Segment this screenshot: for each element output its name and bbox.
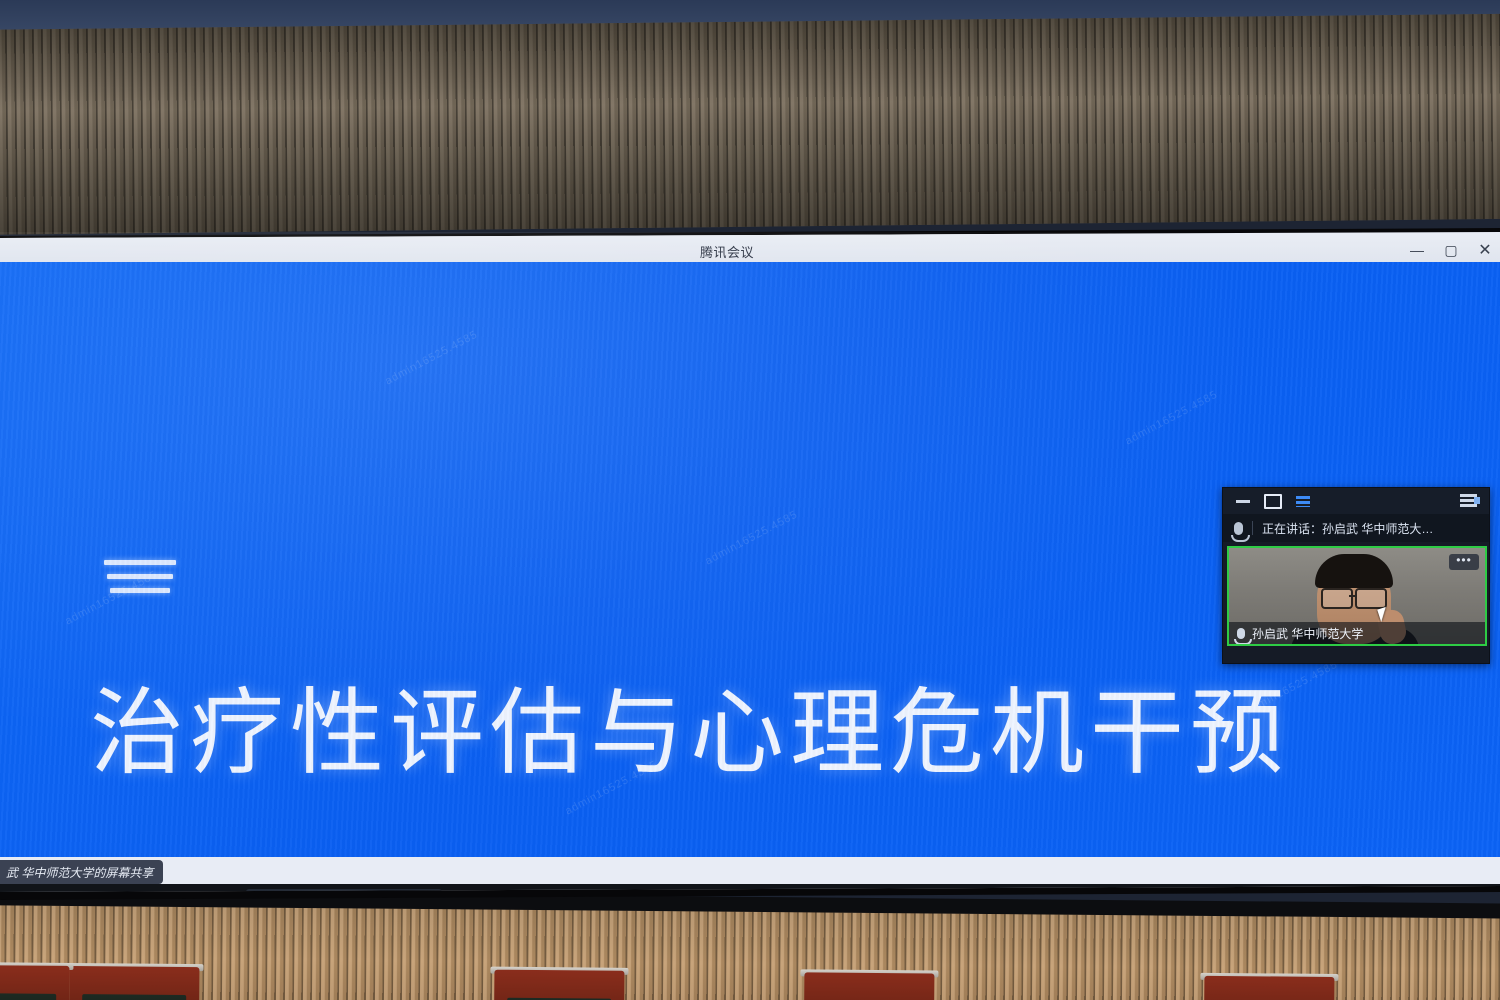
- participant-name: 孙启武 华中师范大学: [1252, 625, 1363, 642]
- video-more-button[interactable]: •••: [1449, 554, 1479, 570]
- window-maximize-button[interactable]: ▢: [1434, 239, 1468, 261]
- glasses-right: [1355, 588, 1387, 609]
- mic-icon: [1237, 628, 1245, 639]
- glasses-bridge: [1349, 595, 1357, 597]
- watermark: admin16525.4585: [703, 509, 800, 568]
- upper-slat-wall: [0, 13, 1500, 235]
- video-name-bar: 孙启武 华中师范大学: [1229, 622, 1485, 644]
- chair: [0, 960, 70, 1000]
- projected-desktop: 腾讯会议 — ▢ ✕ admin16525.4585 admin16525.45…: [0, 232, 1500, 892]
- watermark: admin16525.4585: [383, 329, 480, 388]
- speaking-label: 正在讲话：孙启武 华中师范大…: [1262, 520, 1433, 537]
- glasses-left: [1321, 588, 1353, 609]
- screen-share-label: 武 华中师范大学的屏幕共享: [6, 864, 153, 881]
- window-icon[interactable]: [1263, 494, 1283, 508]
- video-tile[interactable]: ••• 孙启武 华中师范大学: [1227, 546, 1487, 646]
- participant-list-icon[interactable]: [1293, 494, 1313, 508]
- speaking-status-bar: 正在讲话：孙启武 华中师范大…: [1223, 514, 1489, 542]
- window-minimize-button[interactable]: —: [1400, 239, 1434, 261]
- minimize-icon[interactable]: [1233, 494, 1253, 508]
- slide-decoration-lines: [104, 560, 176, 602]
- chair: [494, 965, 625, 1000]
- window-close-button[interactable]: ✕: [1468, 239, 1500, 261]
- chair: [804, 967, 935, 1000]
- meeting-floating-panel[interactable]: 正在讲话：孙启武 华中师范大… ••• 孙启武 华中师范大学: [1222, 487, 1490, 664]
- chair: [1204, 971, 1335, 1000]
- panel-header: [1223, 488, 1489, 514]
- wall-shading-top: [0, 13, 1500, 235]
- mic-icon: [1234, 522, 1243, 535]
- lower-slat-wall: [0, 905, 1500, 1000]
- participant-hair: [1315, 554, 1393, 588]
- divider: [1252, 521, 1253, 535]
- screen-share-banner: 武 华中师范大学的屏幕共享: [0, 860, 163, 884]
- slide-title: 治疗性评估与心理危机干预: [90, 686, 1410, 780]
- watermark: admin16525.4585: [1123, 389, 1220, 448]
- chair: [69, 961, 200, 1000]
- sidebar-toggle-icon[interactable]: [1460, 494, 1477, 507]
- app-title: 腾讯会议: [700, 242, 754, 261]
- conference-room-photo: 腾讯会议 — ▢ ✕ admin16525.4585 admin16525.45…: [0, 0, 1500, 1000]
